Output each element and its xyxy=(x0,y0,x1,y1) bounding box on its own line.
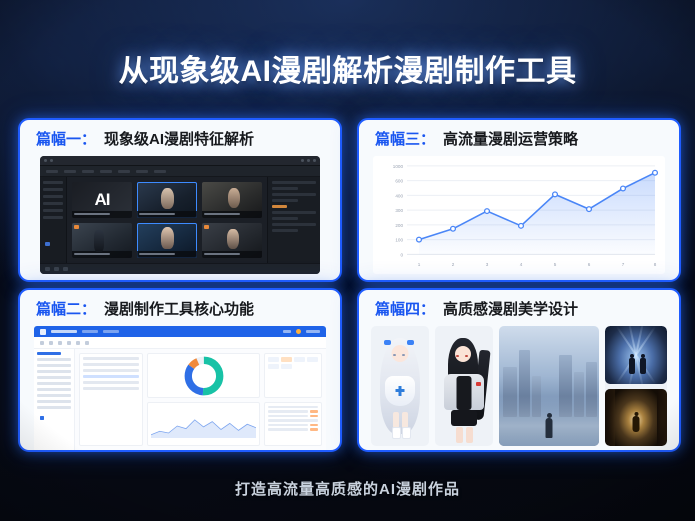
card-2-heading: 漫剧制作工具核心功能 xyxy=(104,301,254,318)
card-3-header: 篇幅三：高流量漫剧运营策略 xyxy=(359,120,679,153)
header-nav-item xyxy=(82,330,98,333)
svg-text:200: 200 xyxy=(395,223,403,228)
media-thumbnail xyxy=(202,223,262,259)
dashboard-main xyxy=(34,349,326,450)
list-item xyxy=(83,357,139,360)
property-row xyxy=(272,187,298,190)
sidebar-item xyxy=(37,388,71,391)
property-row-highlight xyxy=(272,205,287,208)
thumbnail-caption xyxy=(137,211,197,218)
sidebar-item-icon xyxy=(43,216,63,219)
card-4-label: 篇幅四： xyxy=(375,301,435,318)
data-table-card xyxy=(264,402,322,447)
shoe-shape xyxy=(402,427,411,439)
app-logo-icon xyxy=(40,329,46,335)
shoe-shape xyxy=(392,427,401,439)
artboard-gallery xyxy=(371,326,667,446)
card-section-3[interactable]: 篇幅三：高流量漫剧运营策略 xyxy=(357,118,681,282)
hair-bow-icon xyxy=(407,340,414,345)
table-cell-status xyxy=(310,428,318,431)
character-art-black-hair xyxy=(435,326,493,446)
leg-shape xyxy=(456,427,463,443)
table-row xyxy=(268,415,318,418)
svg-text:7: 7 xyxy=(622,262,625,267)
toolbar-item-icon xyxy=(118,170,130,173)
chart-area-fill xyxy=(419,173,655,255)
character-art-white-hair xyxy=(371,326,429,446)
card-3-heading: 高流量漫剧运营策略 xyxy=(443,131,578,148)
figure-silhouette xyxy=(640,358,646,374)
thumbnail-caption xyxy=(72,211,132,218)
toolbar-icon xyxy=(58,341,62,345)
toolbar-icon xyxy=(85,341,89,345)
dashboard-center-column xyxy=(147,353,260,446)
property-row xyxy=(272,211,316,214)
dashboard-sidebar xyxy=(34,349,75,450)
eye-shape xyxy=(456,355,459,357)
scene-art-corridor xyxy=(605,389,667,447)
flag-patch-icon xyxy=(476,382,481,386)
card-section-4[interactable]: 篇幅四：高质感漫剧美学设计 xyxy=(357,288,681,452)
dashboard-header xyxy=(34,326,326,337)
ai-badge-text: AI xyxy=(95,191,110,208)
list-item-selected xyxy=(83,375,139,378)
figure-silhouette xyxy=(546,418,553,438)
status-item-icon xyxy=(45,267,50,271)
chip xyxy=(281,357,292,362)
sidebar-item xyxy=(37,382,71,385)
property-row xyxy=(272,217,298,220)
chart-svg: 1000 600 400 300 200 100 0 xyxy=(373,156,665,274)
inner-top-shape xyxy=(457,376,472,410)
media-thumbnail-grid: AI xyxy=(67,177,267,263)
card-1-header: 篇幅一：现象级AI漫剧特征解析 xyxy=(20,120,340,153)
svg-text:8: 8 xyxy=(654,262,657,267)
sidebar-item-icon xyxy=(43,195,63,198)
toolbar-icon xyxy=(67,341,71,345)
shorts-shape xyxy=(451,410,477,426)
donut-chart xyxy=(182,354,226,397)
card-1-label: 篇幅一： xyxy=(36,131,96,148)
toolbar-icon-active xyxy=(40,416,44,420)
chip xyxy=(294,357,305,362)
editor-properties-panel xyxy=(267,177,320,263)
toolbar-item-icon xyxy=(46,170,58,173)
sidebar-item xyxy=(37,358,71,361)
table-cell-status xyxy=(310,424,318,427)
chart-y-axis-labels: 1000 600 400 300 200 100 0 xyxy=(393,164,404,257)
video-editor-screenshot: AI xyxy=(40,156,320,274)
svg-text:2: 2 xyxy=(452,262,455,267)
card-2-label: 篇幅二： xyxy=(36,301,96,318)
sidebar-item xyxy=(37,352,61,355)
thumbnail-badge-icon xyxy=(204,225,209,229)
thumbnail-caption xyxy=(72,251,132,258)
toolbar-item-icon xyxy=(82,170,94,173)
svg-text:0: 0 xyxy=(400,252,403,257)
svg-text:6: 6 xyxy=(588,262,591,267)
chip xyxy=(307,357,318,362)
media-thumbnail: AI xyxy=(72,182,132,218)
leg-shape xyxy=(393,412,399,428)
table-cell-status xyxy=(310,415,318,418)
sidebar-item xyxy=(37,400,71,403)
status-item-icon xyxy=(63,267,68,271)
list-item xyxy=(83,387,139,390)
table-cell xyxy=(268,424,308,427)
card-3-body: 1000 600 400 300 200 100 0 xyxy=(359,154,679,280)
sidebar-item-icon xyxy=(43,188,63,191)
editor-titlebar xyxy=(40,156,320,166)
toolbar-item-icon xyxy=(136,170,148,173)
hair-bow-icon xyxy=(384,340,391,345)
thumbnail-caption xyxy=(202,211,262,218)
slide-root: 从现象级AI漫剧解析漫剧制作工具 篇幅一：现象级AI漫剧特征解析 xyxy=(0,0,695,521)
sidebar-item xyxy=(37,406,71,409)
table-cell xyxy=(268,406,318,409)
sidebar-item xyxy=(37,364,71,367)
chip xyxy=(281,364,292,369)
thumbnail-badge-icon xyxy=(74,225,79,229)
scene-art-portal xyxy=(605,326,667,384)
dashboard-right-column xyxy=(264,353,322,446)
svg-text:1: 1 xyxy=(418,262,421,267)
sidebar-item xyxy=(37,376,71,379)
list-item xyxy=(83,363,139,366)
editor-statusbar xyxy=(40,263,320,274)
quick-action-chips xyxy=(268,357,318,369)
sidebar-item xyxy=(37,394,71,397)
header-nav-item xyxy=(103,330,119,333)
area-chart-card xyxy=(147,402,260,447)
table-row xyxy=(268,419,318,422)
card-3-label: 篇幅三： xyxy=(375,131,435,148)
pillar-shape xyxy=(657,389,667,447)
media-thumbnail xyxy=(72,223,132,259)
scene-art-city xyxy=(499,326,599,446)
quick-actions-card xyxy=(264,353,322,398)
media-thumbnail-selected xyxy=(137,223,197,259)
eye-shape xyxy=(465,355,468,357)
sidebar-item xyxy=(37,370,71,373)
editor-toolbar xyxy=(40,166,320,177)
leg-shape xyxy=(466,427,473,443)
svg-text:300: 300 xyxy=(395,208,403,213)
card-1-body: AI xyxy=(20,154,340,280)
media-thumbnail-selected xyxy=(137,182,197,218)
svg-text:5: 5 xyxy=(554,262,557,267)
card-2-header: 篇幅二：漫剧制作工具核心功能 xyxy=(20,290,340,323)
svg-text:100: 100 xyxy=(395,238,403,243)
table-row xyxy=(268,428,318,431)
card-2-body xyxy=(20,324,340,450)
leg-shape xyxy=(402,412,408,428)
admin-dashboard-screenshot xyxy=(34,326,326,450)
list-item xyxy=(83,381,139,384)
figure-silhouette xyxy=(629,358,635,374)
table-row xyxy=(268,410,318,413)
svg-text:600: 600 xyxy=(395,179,403,184)
window-dot-icon xyxy=(50,159,53,162)
table-cell xyxy=(268,415,308,418)
dashboard-list-panel xyxy=(79,353,143,446)
chip xyxy=(268,357,279,362)
svg-text:1000: 1000 xyxy=(393,164,404,169)
media-thumbnail xyxy=(202,182,262,218)
card-4-heading: 高质感漫剧美学设计 xyxy=(443,301,578,318)
table-row xyxy=(268,424,318,427)
footer-tagline: 打造高流量高质感的AI漫剧作品 xyxy=(0,478,695,499)
cross-emblem-icon xyxy=(399,386,402,396)
status-item-icon xyxy=(54,267,59,271)
table-cell xyxy=(268,428,308,431)
table-cell xyxy=(268,410,308,413)
card-section-1[interactable]: 篇幅一：现象级AI漫剧特征解析 xyxy=(18,118,342,282)
header-action-icon xyxy=(283,330,291,333)
svg-text:3: 3 xyxy=(486,262,489,267)
editor-sidebar xyxy=(40,177,67,263)
area-chart xyxy=(151,412,256,438)
chart-x-axis-labels: 1 2 3 4 5 6 7 8 xyxy=(418,262,657,267)
eye-shape xyxy=(393,354,396,356)
toolbar-icon xyxy=(40,341,44,345)
property-row xyxy=(272,229,298,232)
toolbar-item-icon xyxy=(154,170,166,173)
svg-text:4: 4 xyxy=(520,262,523,267)
traffic-line-chart: 1000 600 400 300 200 100 0 xyxy=(373,156,665,274)
sidebar-item-icon xyxy=(43,202,63,205)
window-dot-icon xyxy=(313,159,316,162)
toolbar-icon xyxy=(76,341,80,345)
pillar-shape xyxy=(605,389,615,447)
window-dot-icon xyxy=(44,159,47,162)
list-item xyxy=(83,369,139,372)
svg-text:400: 400 xyxy=(395,193,403,198)
window-dot-icon xyxy=(307,159,310,162)
card-1-heading: 现象级AI漫剧特征解析 xyxy=(104,131,254,148)
header-username xyxy=(306,330,320,333)
scene-art-stack xyxy=(605,326,667,446)
donut-chart-card xyxy=(147,353,260,398)
page-title: 从现象级AI漫剧解析漫剧制作工具 xyxy=(0,46,695,90)
dashboard-toolbar xyxy=(34,337,326,349)
thumbnail-caption xyxy=(137,251,197,258)
property-row xyxy=(272,199,298,202)
sidebar-item-icon xyxy=(43,181,63,184)
table-cell-status xyxy=(310,410,318,413)
avatar xyxy=(296,329,301,334)
toolbar-item-icon xyxy=(100,170,112,173)
card-section-2[interactable]: 篇幅二：漫剧制作工具核心功能 xyxy=(18,288,342,452)
header-title-placeholder xyxy=(51,330,77,333)
window-dot-icon xyxy=(301,159,304,162)
thumbnail-caption xyxy=(202,251,262,258)
eye-shape xyxy=(402,354,405,356)
property-row xyxy=(272,193,316,196)
figure-silhouette xyxy=(633,416,640,432)
card-4-body xyxy=(359,324,679,450)
editor-main: AI xyxy=(40,177,320,263)
toolbar-item-icon xyxy=(64,170,76,173)
status-item-icon xyxy=(45,242,50,246)
chip xyxy=(268,364,279,369)
property-row xyxy=(272,181,316,184)
card-4-header: 篇幅四：高质感漫剧美学设计 xyxy=(359,290,679,323)
toolbar-icon xyxy=(49,341,53,345)
property-row xyxy=(272,223,316,226)
sidebar-item-icon xyxy=(43,209,63,212)
table-row xyxy=(268,406,318,409)
table-cell xyxy=(268,419,318,422)
